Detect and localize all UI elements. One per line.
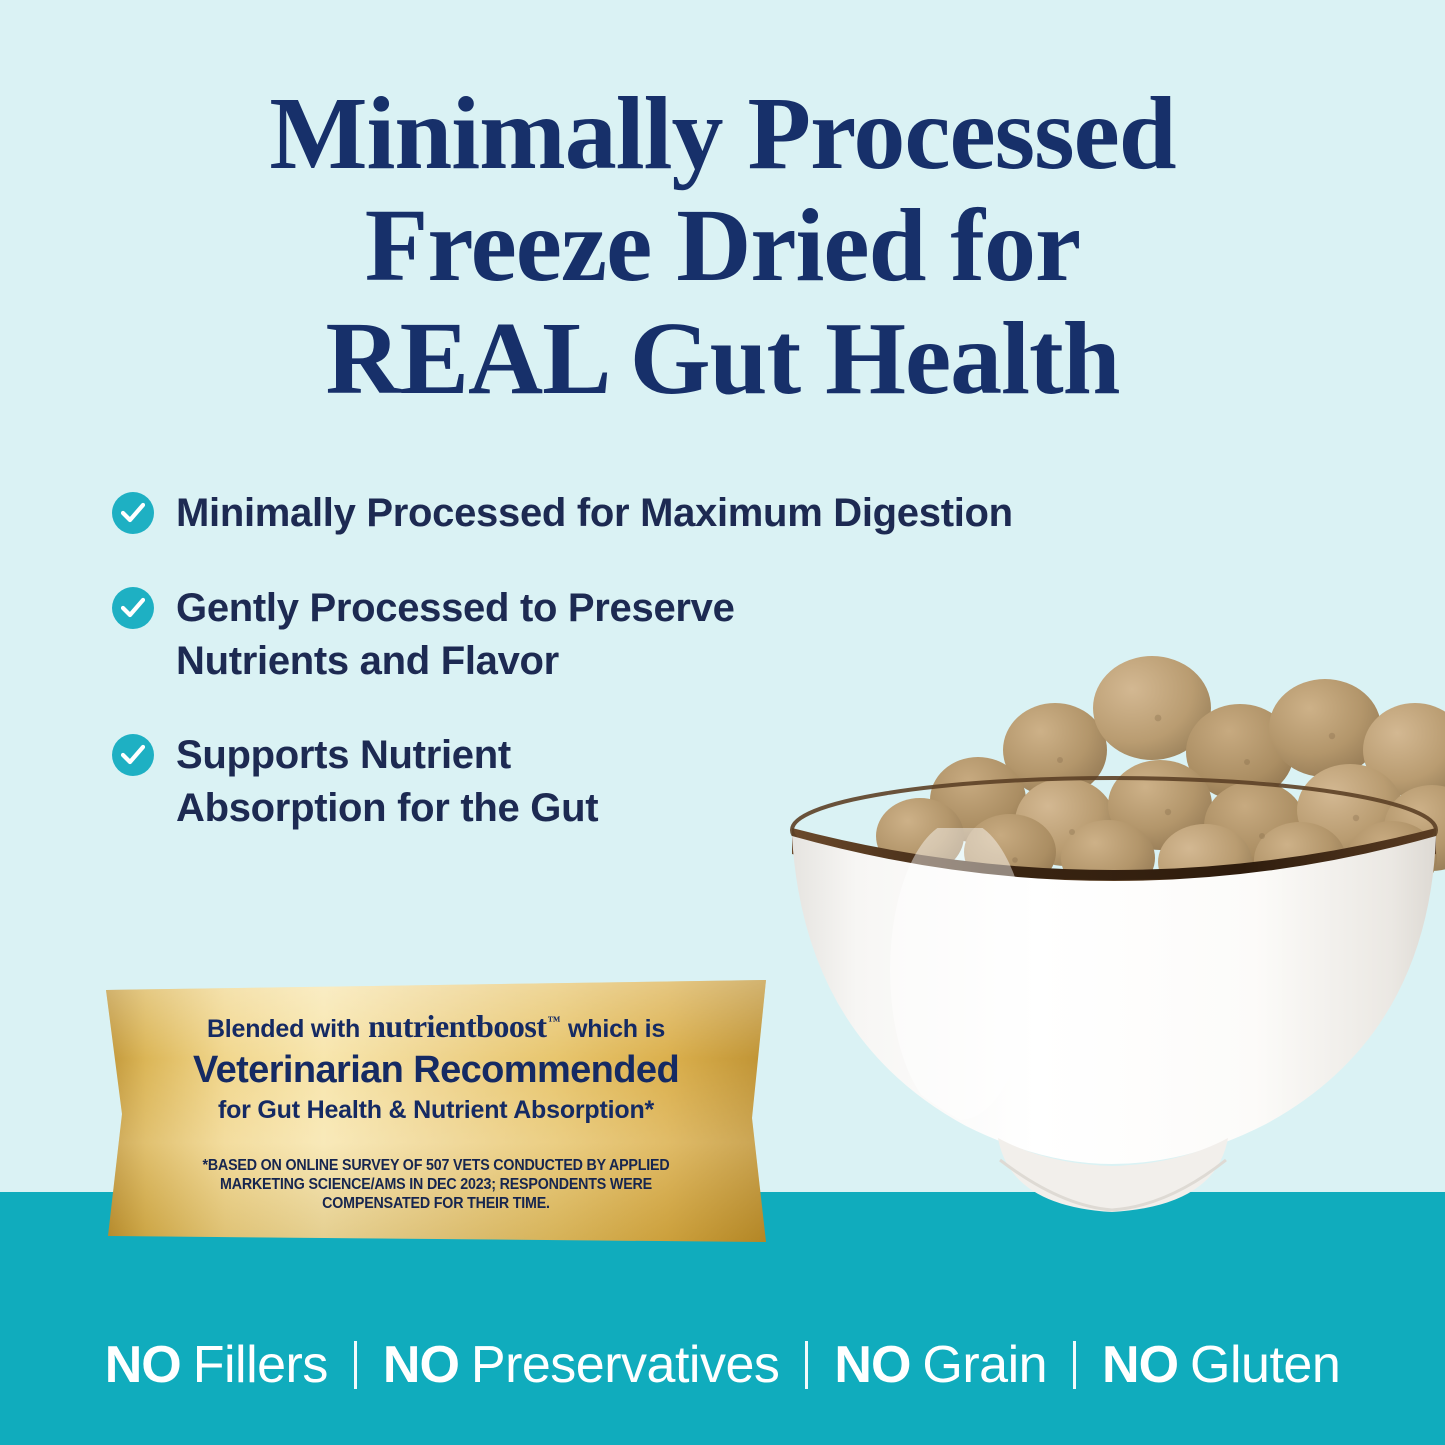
list-item-label: Supports Nutrient Absorption for the Gut [176,729,598,835]
badge-headline: Veterinarian Recommended [193,1049,679,1092]
promo-image-canvas: Minimally Processed Freeze Dried for REA… [0,0,1445,1445]
no-prefix: NO [834,1335,910,1395]
no-claim-item: NO Fillers [105,1335,328,1395]
check-circle-icon [112,492,154,534]
trademark-symbol: ™ [548,1013,561,1028]
divider [1073,1341,1076,1389]
headline-line-3: REAL Gut Health [0,303,1445,415]
no-claim-label: Grain [922,1335,1047,1395]
badge-prefix: Blended with [207,1015,360,1044]
divider [805,1341,808,1389]
veterinarian-recommended-badge: Blended with nutrientboost™ which is Vet… [92,978,780,1248]
no-claim-item: NO Gluten [1102,1335,1340,1395]
no-claim-item: NO Preservatives [383,1335,780,1395]
list-item-label: Minimally Processed for Maximum Digestio… [176,487,1013,540]
divider [354,1341,357,1389]
bullet-3-line-2: Absorption for the Gut [176,786,598,830]
no-prefix: NO [105,1335,181,1395]
headline-line-1: Minimally Processed [0,78,1445,190]
bullet-3-line-1: Supports Nutrient [176,733,511,777]
headline-line-2: Freeze Dried for [0,190,1445,302]
bullet-2-line-1: Gently Processed to Preserve [176,586,735,630]
bowl-of-freeze-dried-food [760,640,1445,1240]
badge-suffix: which is [568,1015,665,1044]
no-prefix: NO [1102,1335,1178,1395]
no-claim-label: Fillers [193,1335,328,1395]
no-claim-item: NO Grain [834,1335,1047,1395]
bullet-1-line-1: Minimally Processed for Maximum Digestio… [176,491,1013,535]
list-item-label: Gently Processed to Preserve Nutrients a… [176,582,735,688]
list-item: Minimally Processed for Maximum Digestio… [112,487,1202,540]
no-claims-strip: NO Fillers NO Preservatives NO Grain NO … [0,1335,1445,1395]
badge-disclaimer: *BASED ON ONLINE SURVEY OF 507 VETS COND… [178,1157,693,1214]
bowl-body [792,836,1436,1164]
no-claim-label: Preservatives [471,1335,780,1395]
check-circle-icon [112,587,154,629]
badge-line-1: Blended with nutrientboost™ which is [207,1008,665,1045]
no-prefix: NO [383,1335,459,1395]
page-title: Minimally Processed Freeze Dried for REA… [0,78,1445,415]
badge-subline: for Gut Health & Nutrient Absorption* [218,1096,654,1125]
brand-text: nutrientboost [368,1008,546,1044]
nutrientboost-wordmark: nutrientboost™ [368,1008,560,1045]
no-claim-label: Gluten [1190,1335,1340,1395]
bullet-2-line-2: Nutrients and Flavor [176,639,559,683]
check-circle-icon [112,734,154,776]
